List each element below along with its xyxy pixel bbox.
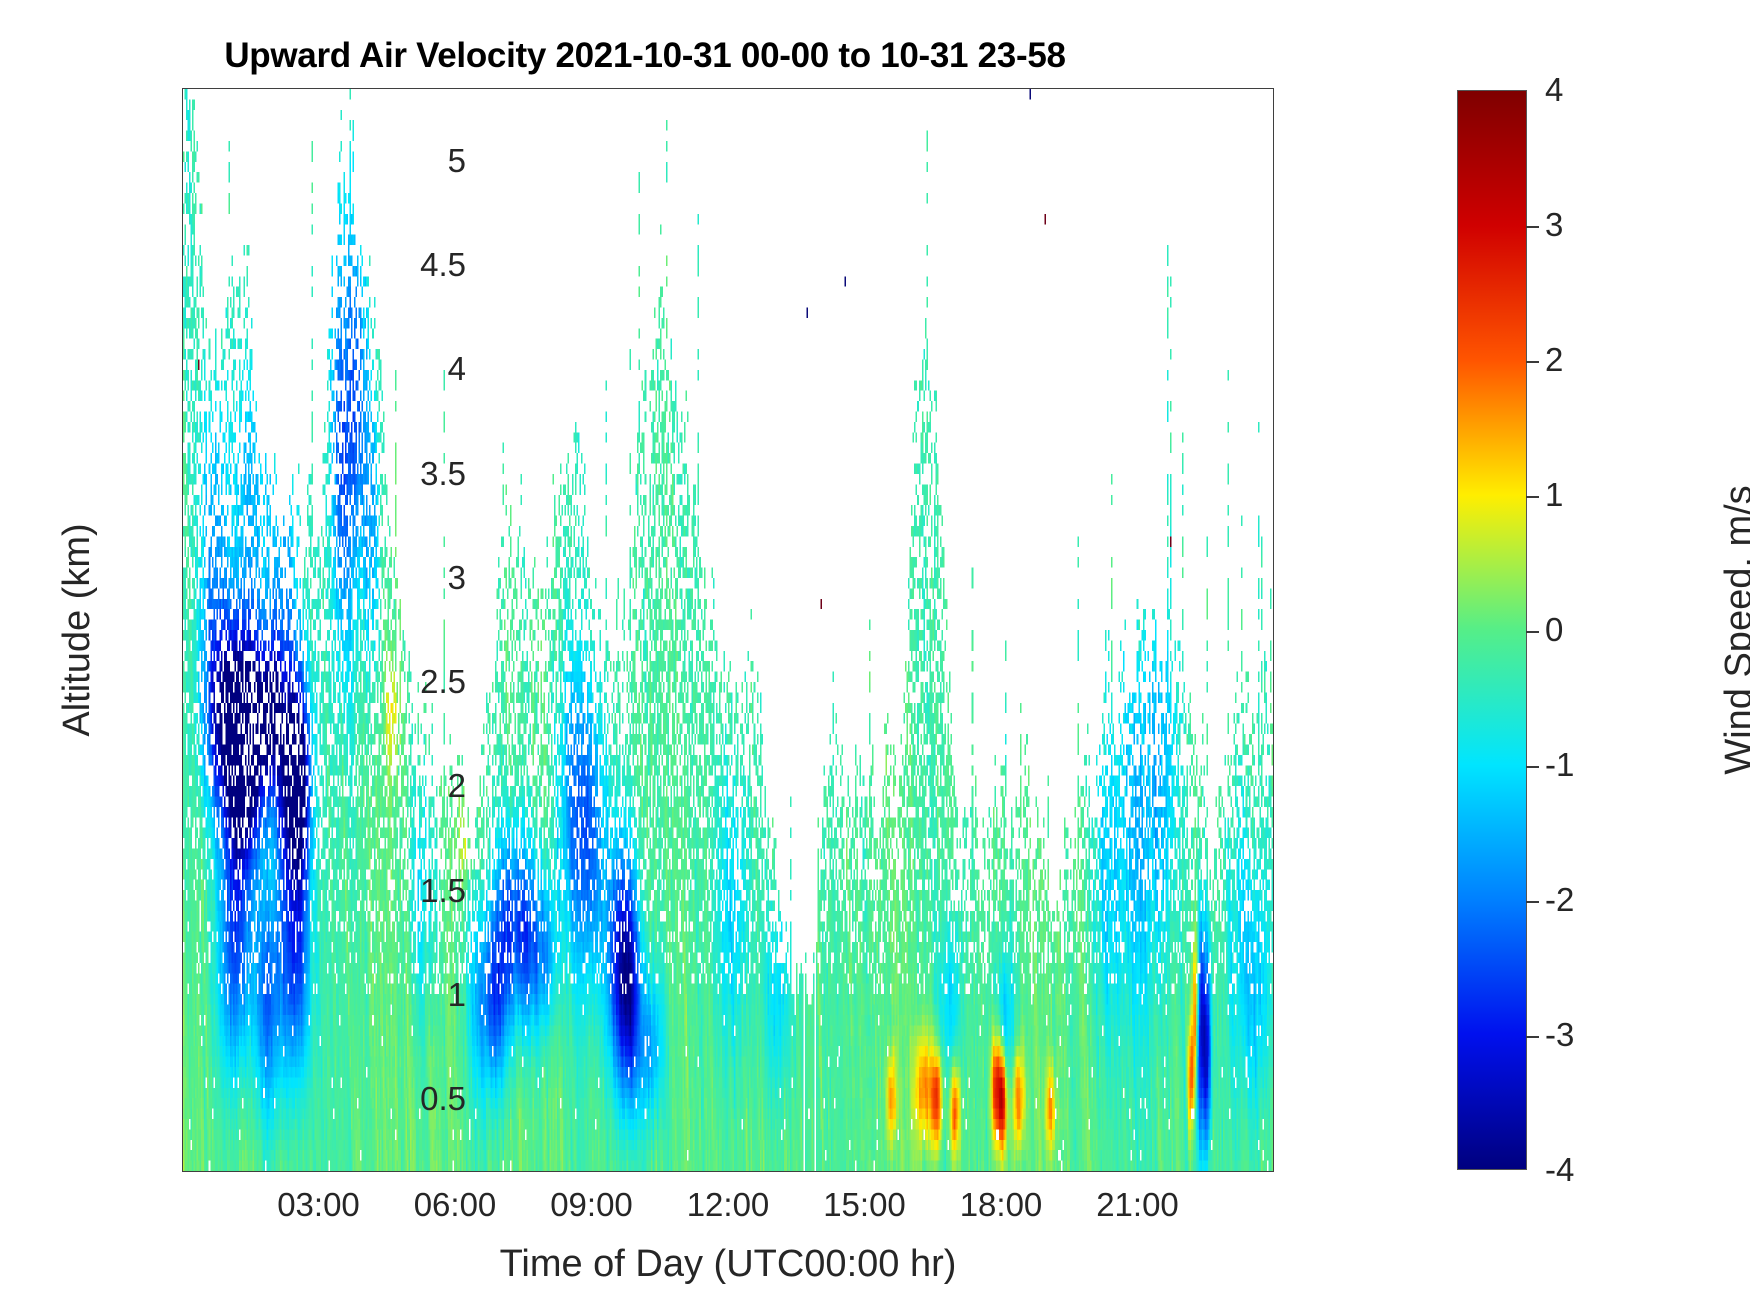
y-tick-label-2: 2 bbox=[306, 767, 466, 805]
x-tick-12:00 bbox=[729, 1171, 730, 1172]
y-axis-title: Altitude (km) bbox=[56, 88, 99, 1172]
y-tick-right-2.5 bbox=[1273, 683, 1274, 684]
chart-title: Upward Air Velocity 2021-10-31 00-00 to … bbox=[0, 36, 1290, 76]
x-tick-label-12:00: 12:00 bbox=[687, 1186, 770, 1224]
colorbar[interactable] bbox=[1457, 90, 1527, 1170]
x-tick-top-21:00 bbox=[1139, 88, 1140, 89]
colorbar-tick-label--4: -4 bbox=[1545, 1151, 1574, 1189]
y-tick-right-3.5 bbox=[1273, 475, 1274, 476]
y-tick-label-2.5: 2.5 bbox=[306, 663, 466, 701]
colorbar-tick-label-0: 0 bbox=[1545, 611, 1563, 649]
y-tick-4.5 bbox=[182, 266, 183, 267]
figure-root: Upward Air Velocity 2021-10-31 00-00 to … bbox=[0, 0, 1750, 1313]
x-tick-label-15:00: 15:00 bbox=[823, 1186, 906, 1224]
x-tick-09:00 bbox=[593, 1171, 594, 1172]
y-tick-label-1.5: 1.5 bbox=[306, 872, 466, 910]
y-tick-label-4: 4 bbox=[306, 350, 466, 388]
colorbar-tick-1 bbox=[1526, 496, 1539, 498]
x-tick-label-18:00: 18:00 bbox=[960, 1186, 1043, 1224]
colorbar-tick-label--3: -3 bbox=[1545, 1016, 1574, 1054]
y-tick-right-1.5 bbox=[1273, 892, 1274, 893]
colorbar-tick--3 bbox=[1526, 1036, 1539, 1038]
y-tick-1 bbox=[182, 996, 183, 997]
colorbar-title: Wind Speed, m/s bbox=[1718, 90, 1750, 1170]
y-tick-label-4.5: 4.5 bbox=[306, 246, 466, 284]
x-tick-top-03:00 bbox=[320, 88, 321, 89]
colorbar-tick-label-4: 4 bbox=[1545, 71, 1563, 109]
x-tick-06:00 bbox=[456, 1171, 457, 1172]
x-tick-label-09:00: 09:00 bbox=[550, 1186, 633, 1224]
colorbar-tick--1 bbox=[1526, 766, 1539, 768]
colorbar-tick-label--1: -1 bbox=[1545, 746, 1574, 784]
x-tick-15:00 bbox=[866, 1171, 867, 1172]
colorbar-tick-label-2: 2 bbox=[1545, 341, 1563, 379]
y-tick-1.5 bbox=[182, 892, 183, 893]
x-tick-top-15:00 bbox=[866, 88, 867, 89]
y-tick-0.5 bbox=[182, 1100, 183, 1101]
y-tick-right-4.5 bbox=[1273, 266, 1274, 267]
x-axis-title: Time of Day (UTC00:00 hr) bbox=[182, 1243, 1274, 1286]
y-tick-right-1 bbox=[1273, 996, 1274, 997]
y-tick-label-1: 1 bbox=[306, 976, 466, 1014]
y-tick-3 bbox=[182, 579, 183, 580]
y-tick-right-2 bbox=[1273, 787, 1274, 788]
colorbar-tick-0 bbox=[1526, 631, 1539, 633]
y-tick-label-3.5: 3.5 bbox=[306, 455, 466, 493]
y-tick-4 bbox=[182, 370, 183, 371]
x-tick-label-21:00: 21:00 bbox=[1096, 1186, 1179, 1224]
y-tick-label-5: 5 bbox=[306, 142, 466, 180]
y-tick-right-3 bbox=[1273, 579, 1274, 580]
y-tick-label-3: 3 bbox=[306, 559, 466, 597]
x-tick-03:00 bbox=[320, 1171, 321, 1172]
colorbar-tick-2 bbox=[1526, 361, 1539, 363]
colorbar-tick--2 bbox=[1526, 901, 1539, 903]
y-tick-right-5 bbox=[1273, 162, 1274, 163]
y-tick-2 bbox=[182, 787, 183, 788]
x-tick-top-12:00 bbox=[729, 88, 730, 89]
y-tick-right-0.5 bbox=[1273, 1100, 1274, 1101]
colorbar-tick-3 bbox=[1526, 226, 1539, 228]
x-tick-label-03:00: 03:00 bbox=[277, 1186, 360, 1224]
y-tick-right-4 bbox=[1273, 370, 1274, 371]
x-tick-label-06:00: 06:00 bbox=[414, 1186, 497, 1224]
y-tick-5 bbox=[182, 162, 183, 163]
x-tick-top-18:00 bbox=[1002, 88, 1003, 89]
x-tick-top-09:00 bbox=[593, 88, 594, 89]
colorbar-tick-label-3: 3 bbox=[1545, 206, 1563, 244]
x-tick-18:00 bbox=[1002, 1171, 1003, 1172]
y-tick-3.5 bbox=[182, 475, 183, 476]
colorbar-gradient bbox=[1458, 91, 1526, 1169]
y-tick-2.5 bbox=[182, 683, 183, 684]
x-tick-top-06:00 bbox=[456, 88, 457, 89]
colorbar-tick-label--2: -2 bbox=[1545, 881, 1574, 919]
colorbar-tick-label-1: 1 bbox=[1545, 476, 1563, 514]
x-tick-21:00 bbox=[1139, 1171, 1140, 1172]
y-tick-label-0.5: 0.5 bbox=[306, 1080, 466, 1118]
